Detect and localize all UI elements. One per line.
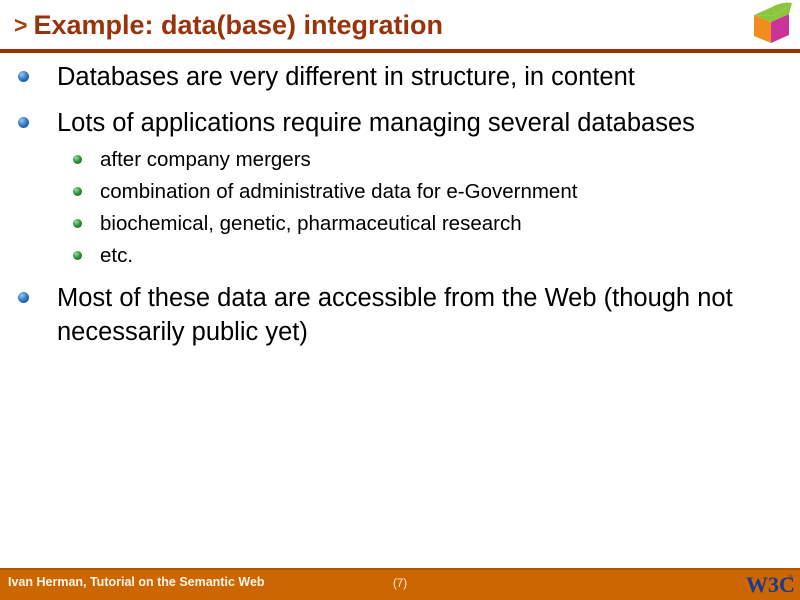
list-item: Most of these data are accessible from t…	[14, 281, 800, 349]
w3c-logo-icon: W3C ®	[744, 569, 796, 599]
bullet-list-level2: after company mergers combination of adm…	[57, 146, 800, 269]
bullet-text: combination of administrative data for e…	[100, 180, 577, 203]
blue-sphere-bullet-icon	[18, 71, 29, 82]
slide: >Example: data(base) integration Databas…	[0, 0, 800, 600]
list-item: Databases are very different in structur…	[14, 60, 800, 94]
title-divider	[0, 49, 800, 53]
green-sphere-bullet-icon	[73, 219, 82, 228]
title-chevron-icon: >	[14, 12, 27, 38]
page-number: (7)	[0, 578, 800, 590]
blue-sphere-bullet-icon	[18, 117, 29, 128]
slide-header: >Example: data(base) integration	[0, 0, 800, 52]
list-item: biochemical, genetic, pharmaceutical res…	[69, 210, 800, 237]
footer-top-divider	[0, 568, 800, 570]
green-sphere-bullet-icon	[73, 187, 82, 196]
semantic-web-cube-logo	[749, 2, 795, 44]
slide-footer: Ivan Herman, Tutorial on the Semantic We…	[0, 568, 800, 600]
bullet-text: Most of these data are accessible from t…	[57, 281, 800, 349]
green-sphere-bullet-icon	[73, 155, 82, 164]
green-sphere-bullet-icon	[73, 251, 82, 260]
bullet-list-level1: Databases are very different in structur…	[0, 60, 800, 349]
list-item: etc.	[69, 242, 800, 269]
title-text: Example: data(base) integration	[33, 10, 443, 40]
blue-sphere-bullet-icon	[18, 292, 29, 303]
slide-content: Databases are very different in structur…	[0, 60, 800, 560]
page-title: >Example: data(base) integration	[14, 8, 443, 43]
svg-text:®: ®	[788, 574, 794, 582]
bullet-text: after company mergers	[100, 148, 311, 171]
bullet-text: etc.	[100, 244, 133, 267]
bullet-text: Lots of applications require managing se…	[57, 106, 800, 140]
bullet-text: Databases are very different in structur…	[57, 60, 800, 94]
bullet-text: biochemical, genetic, pharmaceutical res…	[100, 212, 522, 235]
list-item: Lots of applications require managing se…	[14, 106, 800, 269]
list-item: after company mergers	[69, 146, 800, 173]
list-item: combination of administrative data for e…	[69, 178, 800, 205]
